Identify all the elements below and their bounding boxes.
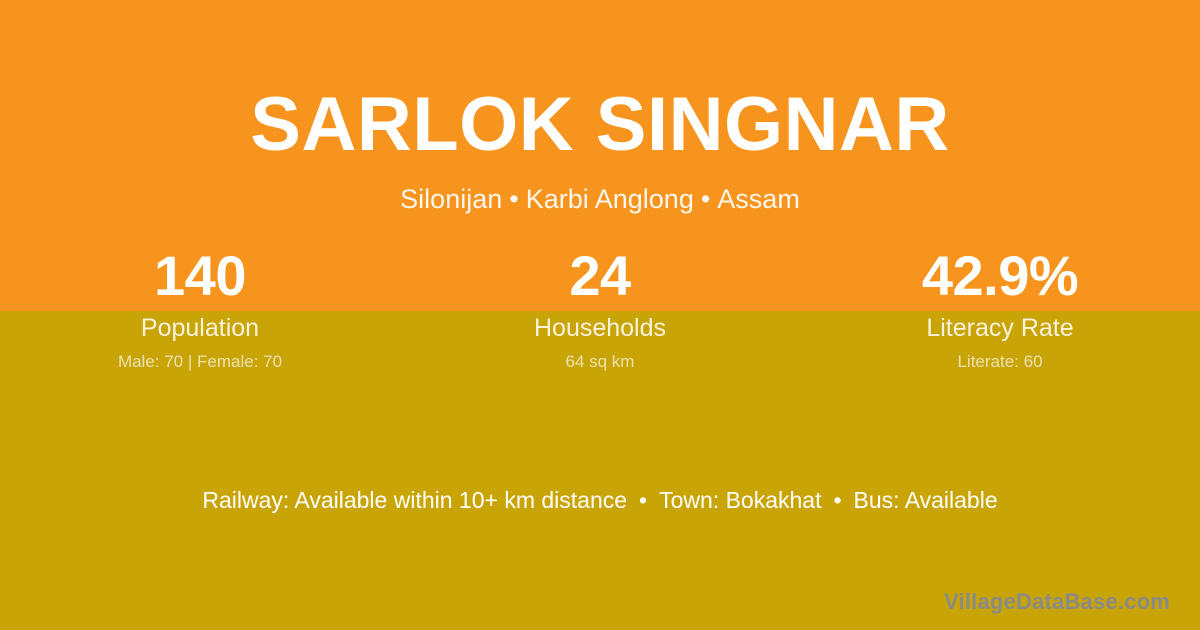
stat-households-label: Households — [400, 313, 800, 343]
stat-population: 140 Population Male: 70 | Female: 70 — [0, 243, 400, 373]
amenity-town: Town: Bokakhat — [659, 487, 821, 513]
amenity-separator-2: • — [821, 487, 853, 513]
breadcrumb-block: Silonijan — [400, 184, 502, 214]
stat-literacy-value: 42.9% — [800, 243, 1200, 309]
card-content: SARLOK SINGNAR Silonijan•Karbi Anglong•A… — [0, 0, 1200, 630]
stat-literacy-sub: Literate: 60 — [800, 351, 1200, 373]
breadcrumb-separator-2: • — [694, 184, 717, 214]
stat-literacy: 42.9% Literacy Rate Literate: 60 — [800, 243, 1200, 373]
breadcrumb-district: Karbi Anglong — [526, 184, 694, 214]
breadcrumb-separator-1: • — [502, 184, 525, 214]
village-info-card: SARLOK SINGNAR Silonijan•Karbi Anglong•A… — [0, 0, 1200, 630]
amenities-line: Railway: Available within 10+ km distanc… — [0, 484, 1200, 516]
stat-population-label: Population — [0, 313, 400, 343]
breadcrumb-state: Assam — [717, 184, 800, 214]
stat-population-sub: Male: 70 | Female: 70 — [0, 351, 400, 373]
amenity-bus: Bus: Available — [854, 487, 998, 513]
brand-watermark: VillageDataBase.com — [944, 588, 1170, 616]
stat-households-sub: 64 sq km — [400, 351, 800, 373]
amenity-separator-1: • — [627, 487, 659, 513]
stat-literacy-label: Literacy Rate — [800, 313, 1200, 343]
stat-households: 24 Households 64 sq km — [400, 243, 800, 373]
amenity-railway: Railway: Available within 10+ km distanc… — [202, 487, 627, 513]
stats-row: 140 Population Male: 70 | Female: 70 24 … — [0, 243, 1200, 373]
breadcrumb: Silonijan•Karbi Anglong•Assam — [0, 182, 1200, 216]
stat-households-value: 24 — [400, 243, 800, 309]
stat-population-value: 140 — [0, 243, 400, 309]
page-title: SARLOK SINGNAR — [0, 82, 1200, 168]
